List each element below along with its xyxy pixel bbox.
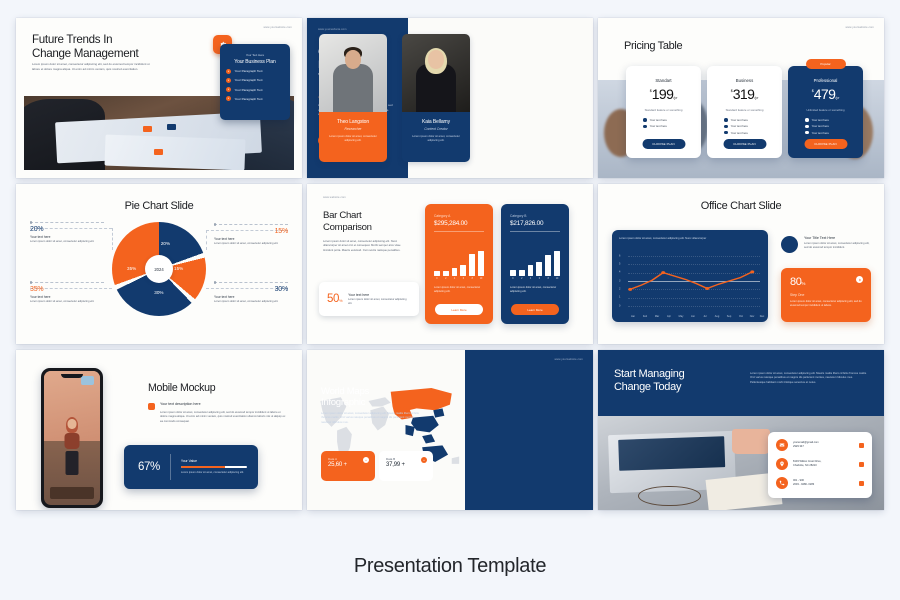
chevron-right-icon (226, 96, 231, 101)
member-head (428, 50, 444, 69)
pie-callout-top-right: 15% Your text here Lorem ipsum dolor sit… (214, 224, 288, 246)
stat-value: 80% (790, 276, 805, 288)
member-photo (319, 34, 387, 112)
callout-percent: 30% (214, 286, 288, 293)
chart-caption: Lorem ipsum dolor sit amet, consectetur … (619, 237, 711, 241)
stat-unit: % (339, 298, 342, 303)
axis-tick: 8 (469, 278, 475, 280)
bar (443, 271, 449, 276)
title-line-2: Change Today (614, 381, 684, 394)
price-value: 479 (814, 86, 836, 102)
stat-number: 80 (790, 276, 801, 288)
check-icon (643, 125, 647, 129)
price-value: 199 (652, 86, 674, 102)
value-note: Lorem ipsum dolor sit amet, consectetur … (181, 471, 251, 475)
member-note: Lorem ipsum dolor sit amet, consectetur … (409, 135, 463, 143)
slide-world-maps[interactable]: www.yourwebsite.com World Maps Infograph… (307, 350, 593, 510)
callout-head: Your text here (214, 237, 288, 241)
callout-percent: 35% (30, 286, 104, 293)
x-tick: Aug (715, 315, 719, 318)
x-tick: May (679, 315, 684, 318)
slide5-body-text: Lorem ipsum dolor sit amet, consectetur … (323, 240, 411, 253)
plus-icon: + (421, 457, 427, 463)
axis-tick: 4 (528, 278, 534, 280)
bar (478, 251, 484, 276)
presentation-template-board: www.yourwebsite.com Future Trends In Cha… (0, 0, 900, 600)
list-item: Your text here (724, 118, 782, 122)
value-card-67: 67% Your Value Lorem ipsum dolor sit ame… (124, 445, 258, 489)
description-row: Your text description here (148, 402, 288, 410)
contact-row-address[interactable]: 8103 Willow Crest Drive, Charlotte, NC 2… (776, 458, 864, 470)
stat-number: 50 (327, 293, 339, 305)
title-line-1: World Maps (321, 386, 369, 397)
chevron-right-icon[interactable] (856, 276, 863, 283)
bar-axis-b: 0 2 4 6 8 10 (510, 278, 560, 280)
list-item: Your text here (643, 124, 701, 128)
axis-tick: 0 (510, 278, 516, 280)
bar (519, 270, 525, 276)
plan-feature: Standard feature or something (626, 108, 701, 112)
x-tick: Feb (643, 315, 647, 318)
callout-body: Lorem ipsum dolor sit amet, consectetur … (214, 300, 288, 304)
y-tick: 4 (619, 271, 620, 274)
stat-value: 50% (327, 293, 342, 305)
check-icon (724, 131, 728, 135)
plan-feature: Standard feature or something (707, 108, 782, 112)
check-icon (805, 118, 809, 122)
eyeglasses (638, 486, 701, 507)
callout-percent: 20% (30, 226, 104, 233)
callout-rule (214, 282, 288, 283)
page-title: Bar Chart Comparison (323, 210, 372, 233)
description-head: Your text description here (160, 402, 201, 410)
callout-rule (30, 282, 104, 283)
phone-notch (61, 374, 83, 378)
website-url: www.yourwebsite.com (263, 26, 292, 29)
divider (170, 454, 171, 480)
card-title: Your Business Plan (220, 59, 290, 65)
choose-plan-button[interactable]: CHOOSE PLAN (642, 139, 685, 149)
list-item-label: Your Paragraph Text (235, 78, 263, 82)
callout-body: Lorem ipsum dolor sit amet, consectetur … (214, 242, 288, 246)
website-url: www.yourwebsite.com (318, 28, 347, 31)
slide-cta[interactable]: Start Managing Change Today Lorem ipsum … (598, 350, 884, 510)
list-item[interactable]: Your Paragraph Text (226, 78, 284, 83)
x-tick: Mar (655, 315, 659, 318)
chevron-right-icon[interactable] (859, 462, 864, 467)
stat-head: Your text here (348, 293, 411, 297)
slide-office-chart[interactable]: Office Chart Slide Lorem ipsum dolor sit… (598, 184, 884, 344)
page-title: Mobile Mockup (148, 382, 215, 394)
title-line-1: Start Managing (614, 368, 684, 381)
stat-body: Lorem ipsum dolor sit amet, consectetur … (790, 300, 862, 308)
list-item-label: Your text here (650, 118, 667, 122)
callout-body: Lorem ipsum dolor sit amet, consectetur … (30, 240, 104, 244)
slide8-body-text: Lorem ipsum dolor sit amet, consectetur … (321, 412, 423, 425)
price-period: /yr (835, 96, 839, 100)
bar (536, 262, 542, 276)
page-title: Pricing Table (624, 40, 682, 52)
phone-icon (776, 477, 788, 489)
contact-card[interactable]: youremail@gmail.com 2929 347 8103 Willow… (768, 432, 872, 498)
pricing-card-professional[interactable]: Popular Professional $479/yr Unlimited f… (788, 66, 863, 158)
currency-symbol: $ (731, 89, 733, 93)
plan-price: $479/yr (788, 86, 863, 104)
contact-line-1: youremail@gmail.com (793, 441, 819, 444)
callout-head: Your text here (214, 295, 288, 299)
page-title: World Maps Infographic (321, 386, 369, 409)
list-item[interactable]: Your Paragraph Text (226, 96, 284, 101)
website-url: www.yourwebsite.com (554, 358, 583, 361)
board-caption: Presentation Template (0, 555, 900, 578)
axis-tick: 2 (519, 278, 525, 280)
price-period: /yr (754, 96, 758, 100)
list-item-label: Your text here (731, 131, 748, 135)
callout-rule (30, 222, 104, 223)
screen-table (50, 487, 94, 499)
category-a-card[interactable]: Category A $295,284.00 0 2 4 6 8 (425, 204, 493, 324)
title-line-1: Bar Chart (323, 210, 372, 222)
callout-percent: 15% (214, 228, 288, 235)
chip-value: 25,60 + (328, 462, 375, 468)
progress-bar (181, 466, 247, 469)
check-icon (643, 118, 647, 122)
list-item[interactable]: Your Paragraph Text (226, 87, 284, 92)
phone-mockup (41, 368, 103, 508)
screen-person-torso (65, 433, 80, 449)
card-note: Lorem ipsum dolor sit amet, consectetur … (510, 286, 560, 294)
title-line-2: Comparison (323, 222, 372, 234)
location-icon (776, 458, 788, 470)
chevron-right-icon[interactable] (859, 443, 864, 448)
list-item-label: Your Paragraph Text (235, 88, 263, 92)
bar (452, 268, 458, 276)
choose-plan-button[interactable]: CHOOSE PLAN (804, 139, 847, 149)
contact-line-2: 2929 347 (793, 445, 804, 448)
pie-callout-bottom-right: 30% Your text here Lorem ipsum dolor sit… (214, 282, 288, 304)
list-item: Your text here (724, 124, 782, 128)
x-tick: Dec (760, 315, 764, 318)
check-icon (805, 131, 809, 135)
divider (434, 231, 484, 232)
list-item: Your text here (724, 131, 782, 135)
pie-callout-top-left: 20% Your text here Lorem ipsum dolor sit… (30, 222, 104, 244)
mail-icon (776, 439, 788, 451)
member-photo (402, 34, 470, 112)
bar (469, 254, 475, 276)
team-member-card[interactable]: Theo Langston Researcher Lorem ipsum dol… (319, 34, 387, 162)
chart-chip-3 (154, 149, 163, 155)
price-period: /yr (673, 96, 677, 100)
page-title: Pie Chart Slide (16, 200, 302, 212)
cta-body-text: Lorem ipsum dolor sit amet, consectetur … (750, 372, 868, 385)
pie-label-15: 15% (174, 266, 183, 271)
slide-mobile-mockup[interactable]: Mobile Mockup Your text description here… (16, 350, 302, 510)
bar (460, 265, 466, 276)
member-head (345, 50, 361, 69)
decorative-circle (781, 236, 798, 253)
pricing-card-standart[interactable]: Standart $199/yr Standard feature or som… (626, 66, 701, 158)
check-icon (724, 125, 728, 129)
bullet-square-icon (148, 403, 155, 410)
x-tick: Nov (750, 315, 754, 318)
member-name: Kaia Bellamy (402, 119, 470, 125)
category-amount: $295,284.00 (434, 220, 493, 227)
member-body (333, 64, 373, 112)
divider (510, 231, 560, 232)
plan-price: $199/yr (626, 86, 701, 104)
chart-chip-1 (143, 126, 152, 132)
card-eyebrow: Your Text Here (220, 53, 290, 57)
member-name: Theo Langston (319, 119, 387, 125)
check-icon (724, 118, 728, 122)
category-amount: $217,826.00 (510, 220, 569, 227)
bar (528, 265, 534, 276)
list-item-label: Your Paragraph Text (235, 97, 263, 101)
laptop-screen (619, 436, 726, 471)
slide-pricing-table[interactable]: www.yourwebsite.com Pricing Table Standa… (598, 18, 884, 178)
stat-body: Lorem ipsum dolor sit amet, consectetur … (348, 298, 411, 306)
list-item: Your text here (643, 118, 701, 122)
contact-text: 001 - 900 2003 - 9480- 0283 (793, 479, 814, 487)
x-tick: Oct (739, 315, 743, 318)
axis-tick: 8 (545, 278, 551, 280)
card-note: Lorem ipsum dolor sit amet, consectetur … (434, 286, 484, 294)
stat-step: Step One (790, 293, 804, 297)
axis-tick: 6 (536, 278, 542, 280)
world-map (307, 350, 465, 510)
contact-line-1: 001 - 900 (793, 479, 804, 482)
chart-chip-2 (167, 124, 176, 130)
list-item-label: Your text here (812, 124, 829, 128)
line-chart-panel: Lorem ipsum dolor sit amet, consectetur … (612, 230, 768, 322)
team-member-card[interactable]: Kaia Bellamy Content Creator Lorem ipsum… (402, 34, 470, 162)
contact-line-2: Charlotte, NC 28210 (793, 464, 817, 467)
list-item[interactable]: Your Paragraph Text (226, 69, 284, 74)
member-note: Lorem ipsum dolor sit amet, consectetur … (326, 135, 380, 143)
contact-line-2: 2003 - 9480- 0283 (793, 483, 814, 486)
description-body: Lorem ipsum dolor sit amet, consectetur … (160, 411, 288, 424)
x-tick: Jul (703, 315, 706, 318)
learn-more-button[interactable]: Learn More (511, 304, 559, 315)
stat-value: 67% (138, 461, 160, 473)
stat-card-50: 50% Your text here Lorem ipsum dolor sit… (319, 282, 419, 316)
x-tick: Apr (667, 315, 671, 318)
plan-feature: Unlimited feature or something (788, 108, 863, 112)
axis-tick: 2 (443, 278, 449, 280)
screen-window (81, 376, 94, 385)
screen-person-legs (66, 451, 79, 475)
contact-text: 8103 Willow Crest Drive, Charlotte, NC 2… (793, 460, 821, 468)
page-title: Office Chart Slide (598, 200, 884, 212)
value-block: Your Value Lorem ipsum dolor sit amet, c… (181, 459, 251, 475)
price-value: 319 (733, 86, 755, 102)
plan-feature-list: Your text here Your text here (643, 118, 701, 128)
pie-center-label: 2024 (145, 255, 173, 283)
chip-value: 37,99 + (386, 462, 433, 468)
bar-plot-a (434, 250, 484, 276)
value-label: Your Value (181, 459, 251, 463)
pie-chart: 20% 15% 30% 35% 2024 (112, 222, 206, 316)
x-tick: Jun (691, 315, 695, 318)
axis-tick: 4 (452, 278, 458, 280)
member-meta: Kaia Bellamy Content Creator Lorem ipsum… (402, 112, 470, 162)
pie-label-30: 30% (154, 290, 163, 295)
chevron-right-icon (226, 69, 231, 74)
phone-screen (44, 371, 100, 505)
list-item: Your text here (805, 131, 863, 135)
plan-feature-list: Your text here Your text here Your text … (724, 118, 782, 135)
list-item-label: Your Paragraph Text (235, 69, 263, 73)
data-chip-a[interactable]: + Data A 25,60 + (321, 451, 375, 481)
data-chip-b[interactable]: + Data B 37,99 + (379, 451, 433, 481)
contact-row-phone[interactable]: 001 - 900 2003 - 9480- 0283 (776, 477, 864, 489)
list-item: Your text here (805, 124, 863, 128)
pie-callout-bottom-left: 35% Your text here Lorem ipsum dolor sit… (30, 282, 104, 304)
world-map-panel (465, 350, 593, 510)
y-tick: 3 (619, 280, 620, 283)
callout-head: Your text here (30, 235, 104, 239)
list-item-label: Your text here (731, 118, 748, 122)
axis-tick: 10 (478, 278, 484, 280)
pie-label-35: 35% (127, 266, 136, 271)
side-head: Your Title Text Here (804, 236, 870, 240)
list-item-label: Your text here (731, 124, 748, 128)
choose-plan-button[interactable]: CHOOSE PLAN (723, 139, 766, 149)
slide1-body-text: Lorem ipsum dolor sit amet, consectetur … (32, 62, 152, 71)
plan-price: $319/yr (707, 86, 782, 104)
document-sheet-2 (105, 135, 246, 170)
bar-axis-a: 0 2 4 6 8 10 (434, 278, 484, 280)
coffee-mug (732, 429, 769, 453)
learn-more-button[interactable]: Learn More (435, 304, 483, 315)
list-item-label: Your text here (812, 131, 829, 135)
contact-line-1: 8103 Willow Crest Drive, (793, 460, 821, 463)
y-tick: 6 (619, 255, 620, 258)
category-label: Category B (510, 214, 569, 218)
slide-pie-chart[interactable]: Pie Chart Slide 20% 15% 30% 35% 2024 20%… (16, 184, 302, 344)
title-line-1: Future Trends In (32, 33, 138, 47)
contact-row-email[interactable]: youremail@gmail.com 2929 347 (776, 439, 864, 451)
pricing-card-business[interactable]: Business $319/yr Standard feature or som… (707, 66, 782, 158)
slide-social-team[interactable]: www.yourwebsite.com Our Social Media Tea… (307, 18, 593, 178)
plan-feature-list: Your text here Your text here Your text … (805, 118, 863, 135)
member-role: Content Creator (402, 127, 470, 131)
screen-person-head (68, 419, 77, 429)
y-tick: 5 (619, 263, 620, 266)
check-icon (805, 125, 809, 129)
bar (510, 270, 516, 276)
y-tick: 0 (619, 305, 620, 308)
list-item: Your text here (805, 118, 863, 122)
popular-badge: Popular (806, 59, 846, 69)
currency-symbol: $ (812, 89, 814, 93)
slide-future-trends[interactable]: www.yourwebsite.com Future Trends In Cha… (16, 18, 302, 178)
stat-unit: % (801, 281, 805, 286)
y-tick: 2 (619, 288, 620, 291)
side-body: Lorem ipsum dolor sit amet, consectetur … (804, 242, 870, 250)
slide-grid: www.yourwebsite.com Future Trends In Cha… (16, 18, 884, 510)
plan-name: Business (707, 78, 782, 83)
stat-text: Your text here Lorem ipsum dolor sit ame… (348, 293, 411, 306)
x-tick: Sep (727, 315, 731, 318)
website-url: www.yourwebsite.com (845, 26, 874, 29)
title-line-2: Change Management (32, 47, 138, 61)
contact-text: youremail@gmail.com 2929 347 (793, 441, 819, 449)
trend-line (628, 256, 760, 306)
callout-body: Lorem ipsum dolor sit amet, consectetur … (30, 300, 104, 304)
title-line-2: Infographic (321, 397, 369, 408)
axis-tick: 0 (434, 278, 440, 280)
currency-symbol: $ (650, 89, 652, 93)
page-title: Start Managing Change Today (614, 368, 684, 394)
bar-plot-b (510, 250, 560, 276)
list-item-label: Your text here (650, 124, 667, 128)
member-role: Researcher (319, 127, 387, 131)
office-side-text: Your Title Text Here Lorem ipsum dolor s… (804, 236, 870, 250)
x-tick: Jan (631, 315, 635, 318)
page-title: Future Trends In Change Management (32, 33, 138, 60)
callout-connector (206, 230, 207, 250)
line-chart-plot (628, 256, 760, 306)
axis-tick: 10 (554, 278, 560, 280)
bar (545, 255, 551, 276)
stat-card-80[interactable]: 80% Step One Lorem ipsum dolor sit amet,… (781, 268, 871, 322)
pie-label-20: 20% (161, 241, 170, 246)
list-item-label: Your text here (812, 118, 829, 122)
y-tick: 1 (619, 296, 620, 299)
category-label: Category A (434, 214, 493, 218)
plus-icon: + (363, 457, 369, 463)
plan-name: Standart (626, 78, 701, 83)
bar (554, 251, 560, 276)
callout-rule (214, 224, 288, 225)
bar (434, 271, 440, 276)
chevron-right-icon (226, 78, 231, 83)
callout-head: Your text here (30, 295, 104, 299)
category-b-card[interactable]: Category B $217,826.00 0 2 4 6 8 (501, 204, 569, 324)
axis-tick: 6 (460, 278, 466, 280)
progress-fill (181, 466, 225, 469)
business-plan-card[interactable]: Your Text Here Your Business Plan Your P… (220, 44, 290, 120)
chevron-right-icon[interactable] (859, 481, 864, 486)
slide-bar-chart[interactable]: www.website.com Bar Chart Comparison Lor… (307, 184, 593, 344)
member-meta: Theo Langston Researcher Lorem ipsum dol… (319, 112, 387, 162)
website-url: www.website.com (323, 196, 346, 199)
chevron-right-icon (226, 87, 231, 92)
plan-name: Professional (788, 78, 863, 83)
